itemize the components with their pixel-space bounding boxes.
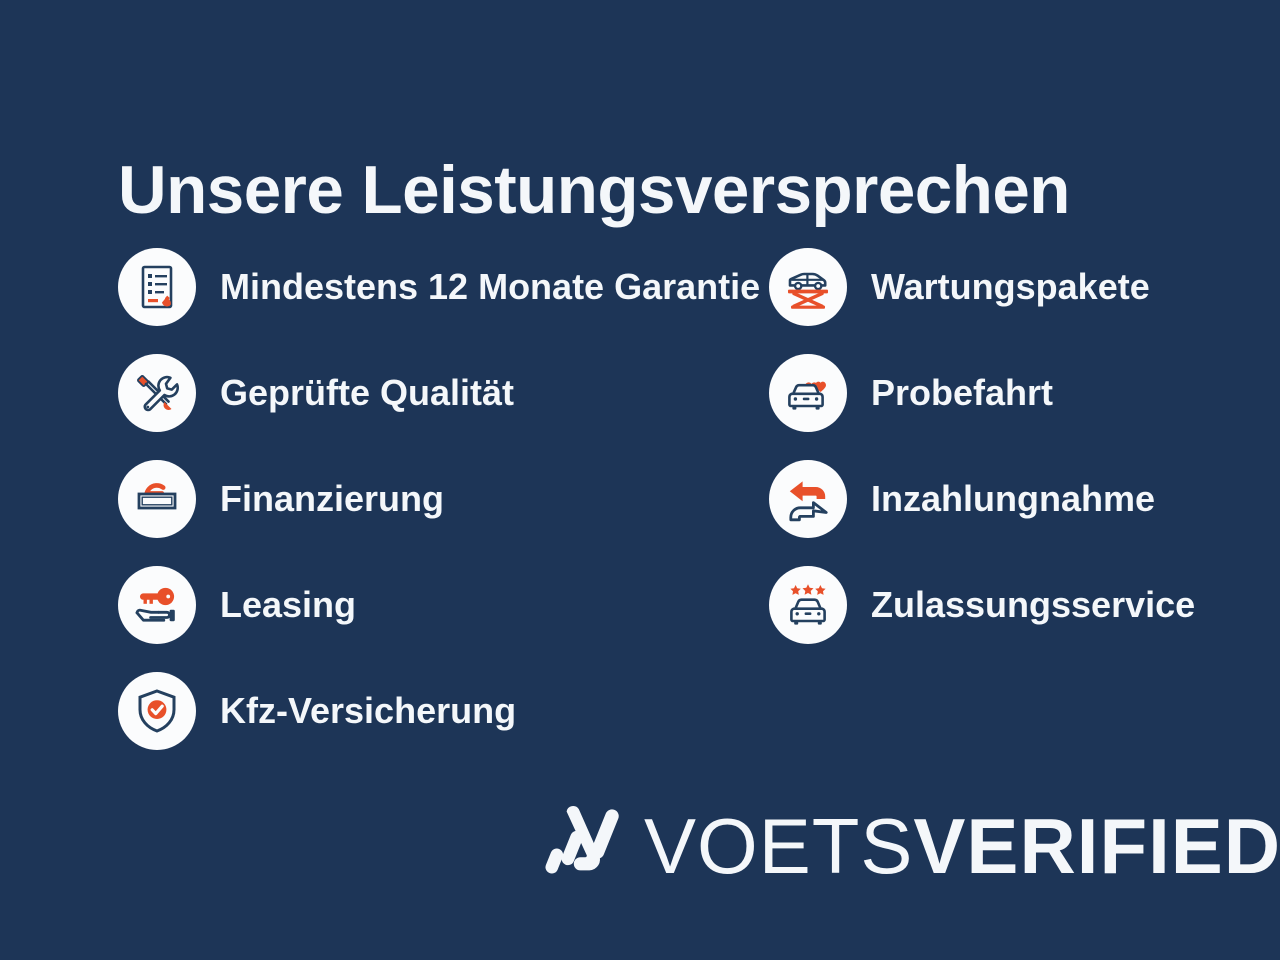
feature-label: Leasing xyxy=(220,585,356,625)
feature-label: Wartungspakete xyxy=(871,267,1150,307)
feature-icon-circle xyxy=(769,460,847,538)
car-three-stars-icon xyxy=(784,581,832,629)
feature-item-finanzierung: Finanzierung xyxy=(118,460,760,538)
feature-icon-circle xyxy=(769,354,847,432)
feature-icon-circle xyxy=(118,354,196,432)
car-heart-icon xyxy=(784,369,832,417)
hand-holding-key-icon xyxy=(133,581,181,629)
feature-item-wartungspakete: Wartungspakete xyxy=(769,248,1195,326)
feature-item-probefahrt: Probefahrt xyxy=(769,354,1195,432)
feature-label: Probefahrt xyxy=(871,373,1053,413)
feature-icon-circle xyxy=(769,248,847,326)
feature-item-leasing: Leasing xyxy=(118,566,760,644)
feature-icon-circle xyxy=(118,566,196,644)
brand-logo: VOETSVERIFIED xyxy=(536,798,1280,894)
feature-label: Zulassungsservice xyxy=(871,585,1195,625)
exchange-arrows-icon xyxy=(784,475,832,523)
feature-icon-circle xyxy=(118,672,196,750)
wrench-screwdriver-icon xyxy=(133,369,181,417)
warranty-document-wrench-icon xyxy=(133,263,181,311)
feature-label: Inzahlungnahme xyxy=(871,479,1155,519)
page-title: Unsere Leistungsversprechen xyxy=(118,150,1177,230)
feature-item-inzahlungnahme: Inzahlungnahme xyxy=(769,460,1195,538)
feature-icon-circle xyxy=(769,566,847,644)
feature-item-garantie: Mindestens 12 Monate Garantie xyxy=(118,248,760,326)
feature-label: Mindestens 12 Monate Garantie xyxy=(220,267,760,307)
feature-item-qualitaet: Geprüfte Qualität xyxy=(118,354,760,432)
promo-banner: Unsere Leistungsversprechen xyxy=(0,0,1280,960)
shield-check-icon xyxy=(133,687,181,735)
feature-item-zulassungsservice: Zulassungsservice xyxy=(769,566,1195,644)
feature-label: Finanzierung xyxy=(220,479,444,519)
logo-word-verified: VERIFIED xyxy=(913,802,1280,890)
feature-icon-circle xyxy=(118,248,196,326)
voets-v-checkmark-icon xyxy=(536,802,624,890)
feature-label: Geprüfte Qualität xyxy=(220,373,514,413)
feature-label: Kfz-Versicherung xyxy=(220,691,516,731)
features-left-column: Mindestens 12 Monate Garantie xyxy=(118,248,760,778)
feature-item-versicherung: Kfz-Versicherung xyxy=(118,672,760,750)
car-on-lift-icon xyxy=(784,263,832,311)
logo-wordmark: VOETSVERIFIED xyxy=(644,806,1280,886)
feature-icon-circle xyxy=(118,460,196,538)
euro-banknote-icon xyxy=(133,475,181,523)
features-right-column: Wartungspakete xyxy=(769,248,1195,672)
logo-word-voets: VOETS xyxy=(644,802,913,890)
